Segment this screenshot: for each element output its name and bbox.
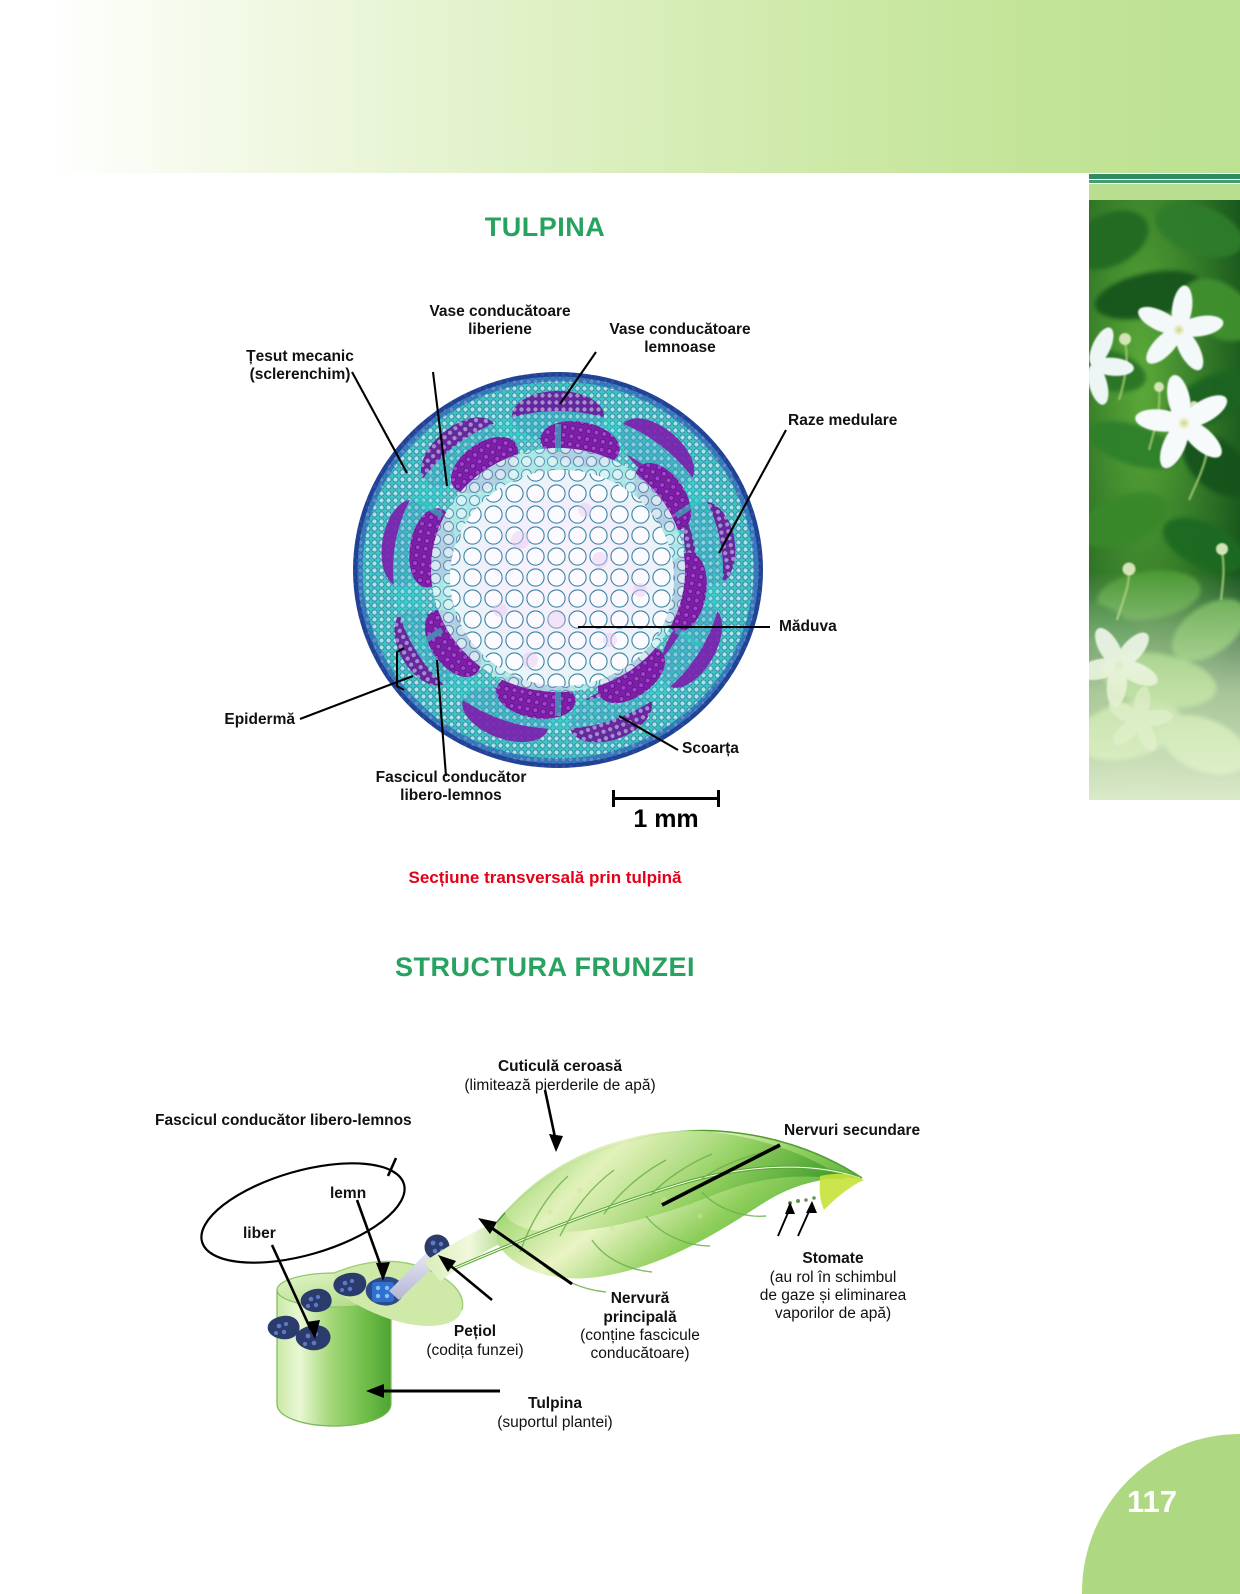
- label-cuticle: Cuticulă ceroasă (limitează pierderile d…: [420, 1040, 700, 1113]
- label-petiole-sub: (codița funzei): [400, 1342, 550, 1360]
- vascular-tube: [389, 1235, 450, 1301]
- label-secondary-veins: Nervuri secundare: [784, 1122, 920, 1140]
- label-cortex: Scoarța: [682, 740, 739, 758]
- stem-section-caption: Secțiune transversală prin tulpină: [0, 868, 1090, 888]
- label-stomata-sub: (au rol în schimbul de gaze și eliminare…: [718, 1269, 948, 1324]
- label-epidermis: Epidermă: [120, 711, 295, 729]
- label-midrib: Nervură principală (conține fascicule co…: [545, 1272, 735, 1382]
- label-xylem: Vase conducătoare lemnoase: [580, 321, 780, 358]
- label-phloem-leaf: liber: [243, 1225, 276, 1243]
- scale-bar: [612, 790, 720, 806]
- label-petiole-main: Pețiol: [454, 1323, 496, 1340]
- section-title-stem: TULPINA: [0, 212, 1090, 243]
- label-stem-sub: (suportul plantei): [430, 1414, 680, 1432]
- page-number: 117: [1082, 1484, 1222, 1520]
- teal-rule-secondary: [1089, 180, 1240, 183]
- vascular-bundles-in-stem: [268, 1273, 404, 1351]
- bundle-callout-ellipse: [190, 1144, 415, 1283]
- petiole: [424, 1218, 516, 1281]
- label-stem-leaf: Tulpina (suportul plantei): [430, 1377, 680, 1450]
- label-midrib-main: Nervură principală: [603, 1290, 676, 1325]
- label-stem-main: Tulpina: [528, 1395, 582, 1412]
- top-gradient-band: [0, 0, 1240, 173]
- label-xylem-leaf: lemn: [330, 1185, 366, 1203]
- label-medullary-rays: Raze medulare: [788, 412, 897, 430]
- scale-bar-label: 1 mm: [596, 805, 736, 834]
- stem-cylinder: [277, 1273, 391, 1426]
- label-cuticle-main: Cuticulă ceroasă: [498, 1058, 622, 1075]
- label-stomata-main: Stomate: [802, 1250, 863, 1267]
- label-vascular-bundle-leaf: Fascicul conducător libero-lemnos: [155, 1112, 412, 1130]
- section-title-leaf: STRUCTURA FRUNZEI: [0, 952, 1090, 983]
- label-pith: Măduva: [779, 618, 837, 636]
- label-petiole: Pețiol (codița funzei): [400, 1305, 550, 1378]
- label-stomata: Stomate (au rol în schimbul de gaze și e…: [718, 1232, 948, 1342]
- label-vascular-bundle: Fascicul conducător libero-lemnos: [351, 769, 551, 806]
- label-sclerenchyma: Țesut mecanic (sclerenchim): [200, 348, 400, 385]
- xylem-bundle-highlight: [366, 1277, 404, 1306]
- textbook-page: TULPINA: [0, 0, 1240, 1594]
- label-phloem: Vase conducătoare liberiene: [400, 303, 600, 340]
- teal-rule: [1089, 174, 1240, 179]
- label-cuticle-sub: (limitează pierderile de apă): [420, 1077, 700, 1095]
- label-midrib-sub: (conține fascicule conducătoare): [545, 1327, 735, 1364]
- flowering-plant-photo: [1089, 200, 1240, 800]
- stem-leader-lines: [300, 352, 786, 776]
